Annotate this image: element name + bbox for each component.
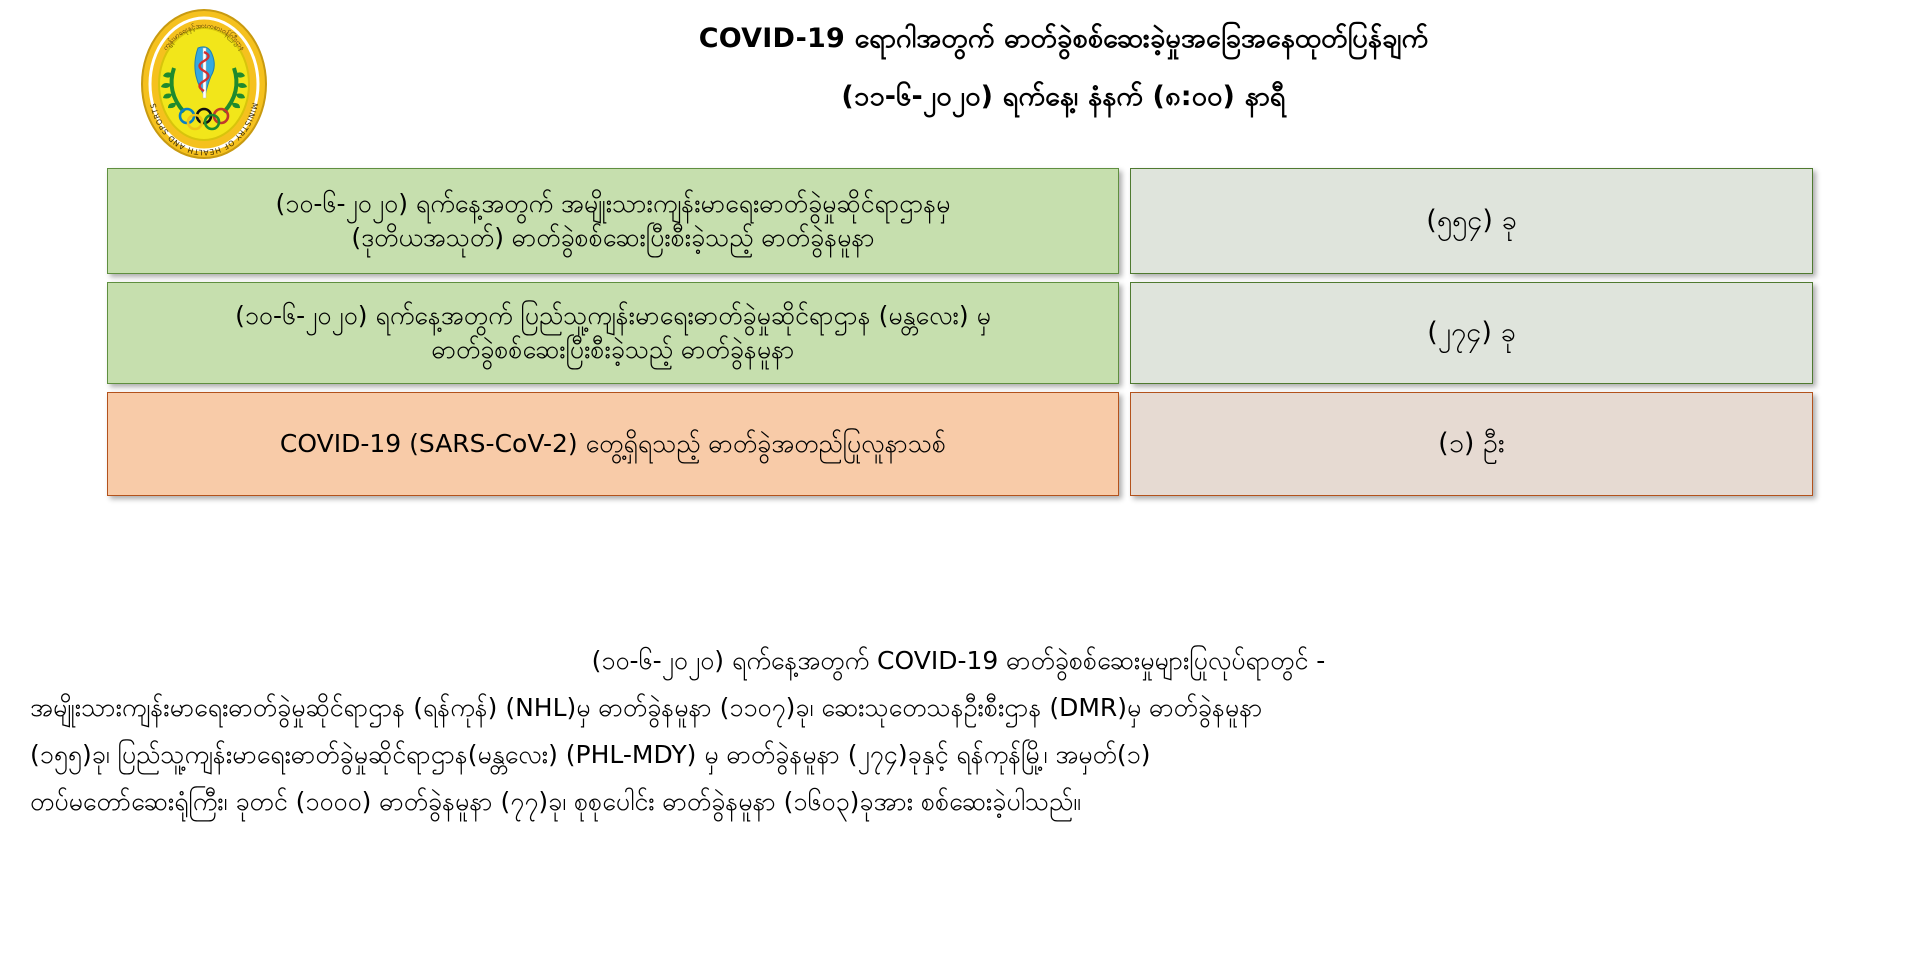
- footnote-block: (၁၀-၆-၂၀၂၀) ရက်နေ့အတွက် COVID-19 ဓာတ်ခွဲ…: [0, 648, 1917, 836]
- page-title-line2: (၁၁-၆-၂၀၂၀) ရက်နေ့၊ နံနက် (၈:၀၀) နာရီ: [290, 76, 1837, 118]
- ministry-seal-logo: ကျန်းမာရေးနှင့်အားကစားဝန်ကြီးဌာန MINISTR…: [140, 8, 268, 160]
- row-label-line2: (ဒုတိယအသုတ်) ဓာတ်ခွဲစစ်ဆေးပြီးစီးခဲ့သည့်…: [276, 221, 951, 255]
- table-row: (၁၀-၆-၂၀၂၀) ရက်နေ့အတွက် ပြည်သူ့ကျန်းမာရေ…: [0, 282, 1917, 384]
- row-label-cell: (၁၀-၆-၂၀၂၀) ရက်နေ့အတွက် အမျိုးသားကျန်းမာ…: [107, 168, 1119, 274]
- ministry-seal-icon: ကျန်းမာရေးနှင့်အားကစားဝန်ကြီးဌာန MINISTR…: [140, 8, 268, 160]
- row-value-cell: (၅၅၄) ခု: [1130, 168, 1813, 274]
- footnote-line-4: တပ်မတော်ဆေးရုံကြီး၊ ခုတင် (၁၀၀၀) ဓာတ်ခွဲ…: [22, 789, 1895, 814]
- table-row: (၁၀-၆-၂၀၂၀) ရက်နေ့အတွက် အမျိုးသားကျန်းမာ…: [0, 168, 1917, 274]
- row-value: (၅၅၄) ခု: [1426, 203, 1516, 238]
- row-value-cell: (၂၇၄) ခု: [1130, 282, 1813, 384]
- page-title-line1: COVID-19 ရောဂါအတွက် ဓာတ်ခွဲစစ်ဆေးခဲ့မှုအ…: [290, 18, 1837, 60]
- row-label-line1: (၁၀-၆-၂၀၂၀) ရက်နေ့အတွက် အမျိုးသားကျန်းမာ…: [276, 187, 951, 221]
- row-value: (၂၇၄) ခု: [1427, 315, 1515, 350]
- row-label-line1: (၁၀-၆-၂၀၂၀) ရက်နေ့အတွက် ပြည်သူ့ကျန်းမာရေ…: [235, 299, 991, 333]
- table-row: COVID-19 (SARS-CoV-2) တွေ့ရှိရသည့် ဓာတ်ခ…: [0, 392, 1917, 496]
- row-label-line1: COVID-19 (SARS-CoV-2) တွေ့ရှိရသည့် ဓာတ်ခ…: [280, 427, 946, 461]
- summary-table: (၁၀-၆-၂၀၂၀) ရက်နေ့အတွက် အမျိုးသားကျန်းမာ…: [0, 168, 1917, 504]
- row-value-cell: (၁) ဦး: [1130, 392, 1813, 496]
- page-header: ကျန်းမာရေးနှင့်အားကစားဝန်ကြီးဌာန MINISTR…: [0, 0, 1917, 170]
- title-block: COVID-19 ရောဂါအတွက် ဓာတ်ခွဲစစ်ဆေးခဲ့မှုအ…: [290, 18, 1837, 118]
- row-label-cell: COVID-19 (SARS-CoV-2) တွေ့ရှိရသည့် ဓာတ်ခ…: [107, 392, 1119, 496]
- footnote-line-1: (၁၀-၆-၂၀၂၀) ရက်နေ့အတွက် COVID-19 ဓာတ်ခွဲ…: [22, 648, 1895, 673]
- row-value: (၁) ဦး: [1438, 426, 1505, 461]
- footnote-line-3: (၁၅၅)ခု၊ ပြည်သူ့ကျန်းမာရေးဓာတ်ခွဲမှုဆိုင…: [22, 742, 1895, 767]
- row-label-cell: (၁၀-၆-၂၀၂၀) ရက်နေ့အတွက် ပြည်သူ့ကျန်းမာရေ…: [107, 282, 1119, 384]
- footnote-line-2: အမျိုးသားကျန်းမာရေးဓာတ်ခွဲမှုဆိုင်ရာဌာန …: [22, 695, 1895, 720]
- row-label-line2: ဓာတ်ခွဲစစ်ဆေးပြီးစီးခဲ့သည့် ဓာတ်ခွဲနမူနာ: [235, 333, 991, 367]
